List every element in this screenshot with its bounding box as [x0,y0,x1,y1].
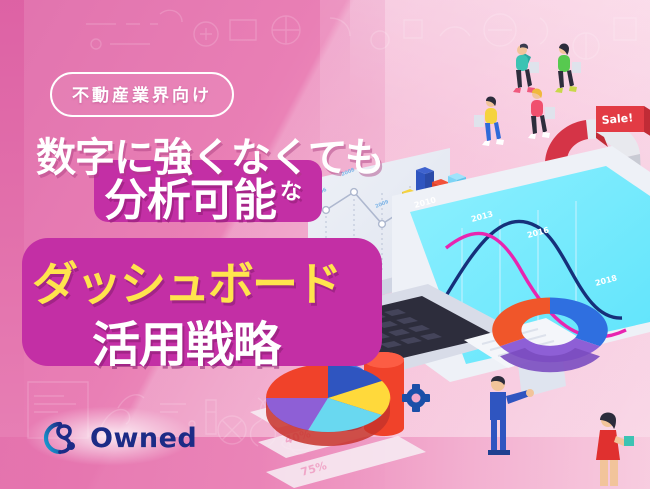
banner-root: Sale! 2006 2008 2009 2014 2019 [0,0,650,489]
headline-line-2-main: 分析可能 [104,175,276,226]
pie-chart-group [266,364,390,446]
headline-line-2: 分析可能な [104,164,301,228]
brand-logo[interactable]: Owned [38,418,197,458]
logo-wordmark: Owned [90,423,197,454]
title-line-2: 活用戦略 [92,305,280,375]
person-woman [596,413,634,487]
svg-text:Sale!: Sale! [601,111,634,127]
owned-swirl-icon [38,418,82,458]
target-audience-badge: 不動産業界向け [50,72,234,117]
gear-icon [402,384,430,412]
headline-line-2-suffix: な [280,180,301,205]
